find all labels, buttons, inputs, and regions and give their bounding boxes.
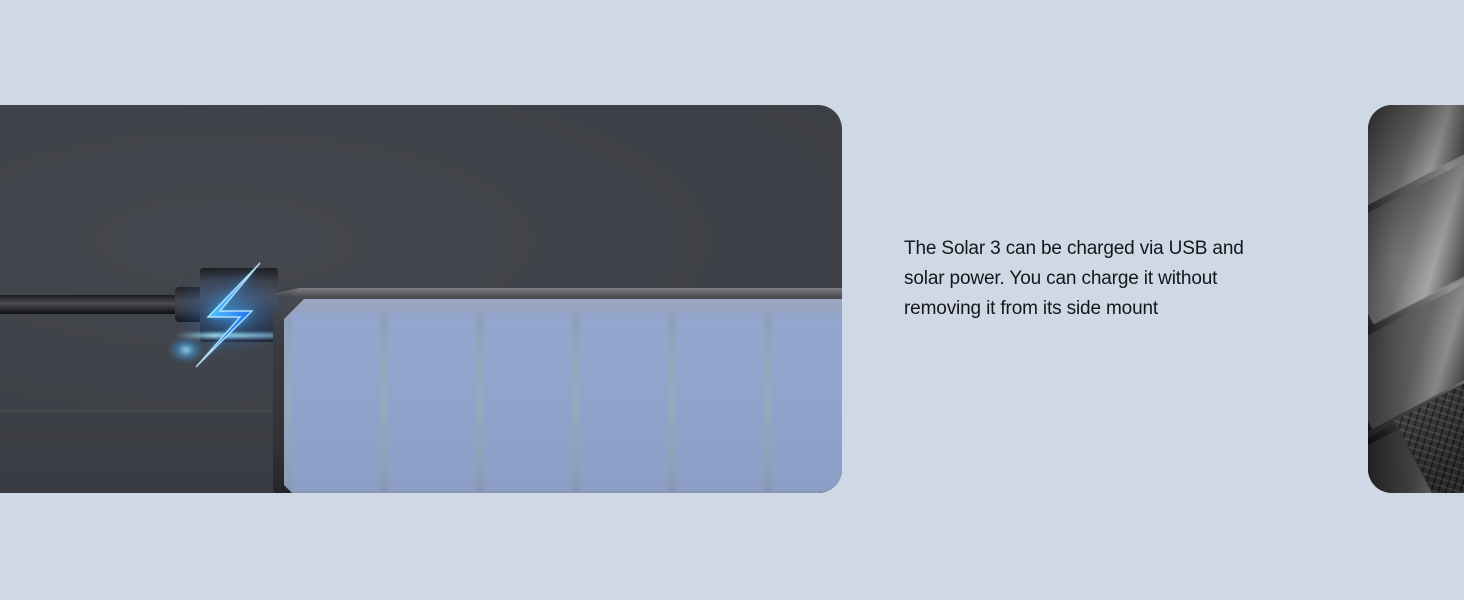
feature-description-text: The Solar 3 can be charged via USB and s… (904, 234, 1279, 324)
solar-cell (484, 313, 572, 491)
panel-bezel-highlight (273, 288, 842, 297)
product-detail-photo (1368, 105, 1464, 493)
solar-cell (676, 313, 764, 491)
feature-description: The Solar 3 can be charged via USB and s… (904, 234, 1279, 324)
detail-vignette (1368, 105, 1464, 493)
solar-panel-charging-photo (0, 105, 842, 493)
solar-cell-array (292, 313, 842, 491)
feature-section: The Solar 3 can be charged via USB and s… (0, 0, 1464, 600)
solar-cell (580, 313, 668, 491)
solar-cell (292, 313, 380, 491)
solar-cell (772, 313, 842, 491)
solar-cell (388, 313, 476, 491)
solar-panel-module (273, 288, 842, 493)
